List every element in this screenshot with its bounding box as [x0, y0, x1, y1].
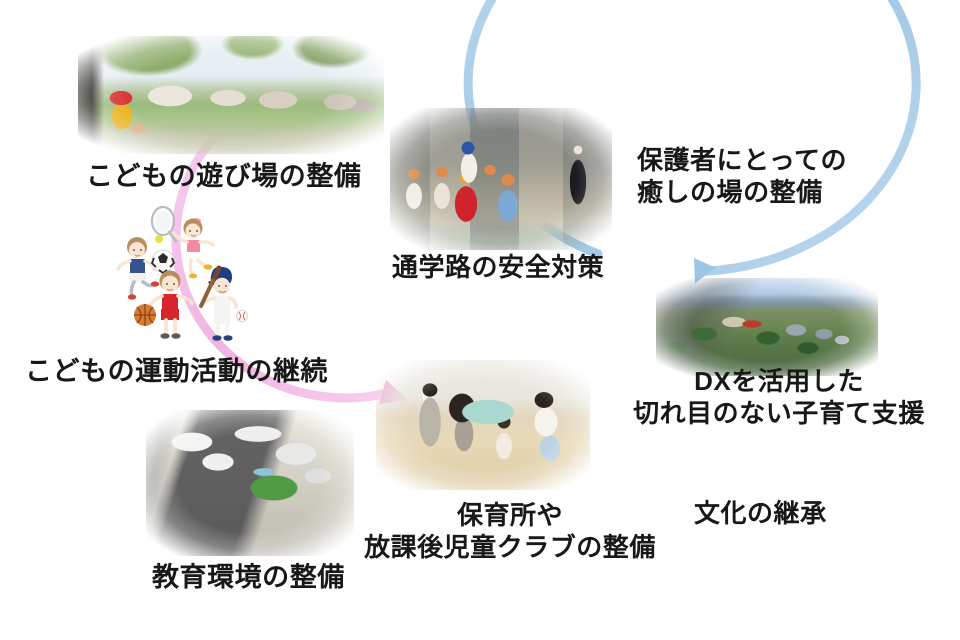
sports-kids-illustration	[113, 198, 253, 348]
label-nursery-afterschool-club: 保育所や 放課後児童クラブの整備	[360, 500, 660, 563]
label-playground-development: こどもの遊び場の整備	[86, 160, 361, 193]
label-education-environment: 教育環境の整備	[152, 561, 345, 594]
playground-photo	[78, 36, 384, 154]
label-dx-childcare-support: DXを活用した 切れ目のない子育て支援	[624, 366, 934, 429]
baseball-boy-figure	[201, 267, 248, 341]
label-caregiver-healing-space: 保護者にとっての 癒しの場の整備	[637, 145, 847, 208]
label-children-sports-continuation: こどもの運動活動の継続	[25, 355, 328, 388]
label-school-route-safety: 通学路の安全対策	[392, 252, 604, 284]
school-aerial-photo	[146, 410, 354, 556]
label-culture-inheritance: 文化の継承	[694, 498, 827, 530]
crosswalk-photo	[390, 108, 612, 250]
slide-canvas: こどもの遊び場の整備 保護者にとっての 癒しの場の整備 通学路の安全対策 こども…	[0, 0, 960, 640]
aerial-city-photo	[656, 278, 878, 376]
nursery-photo	[376, 360, 590, 490]
